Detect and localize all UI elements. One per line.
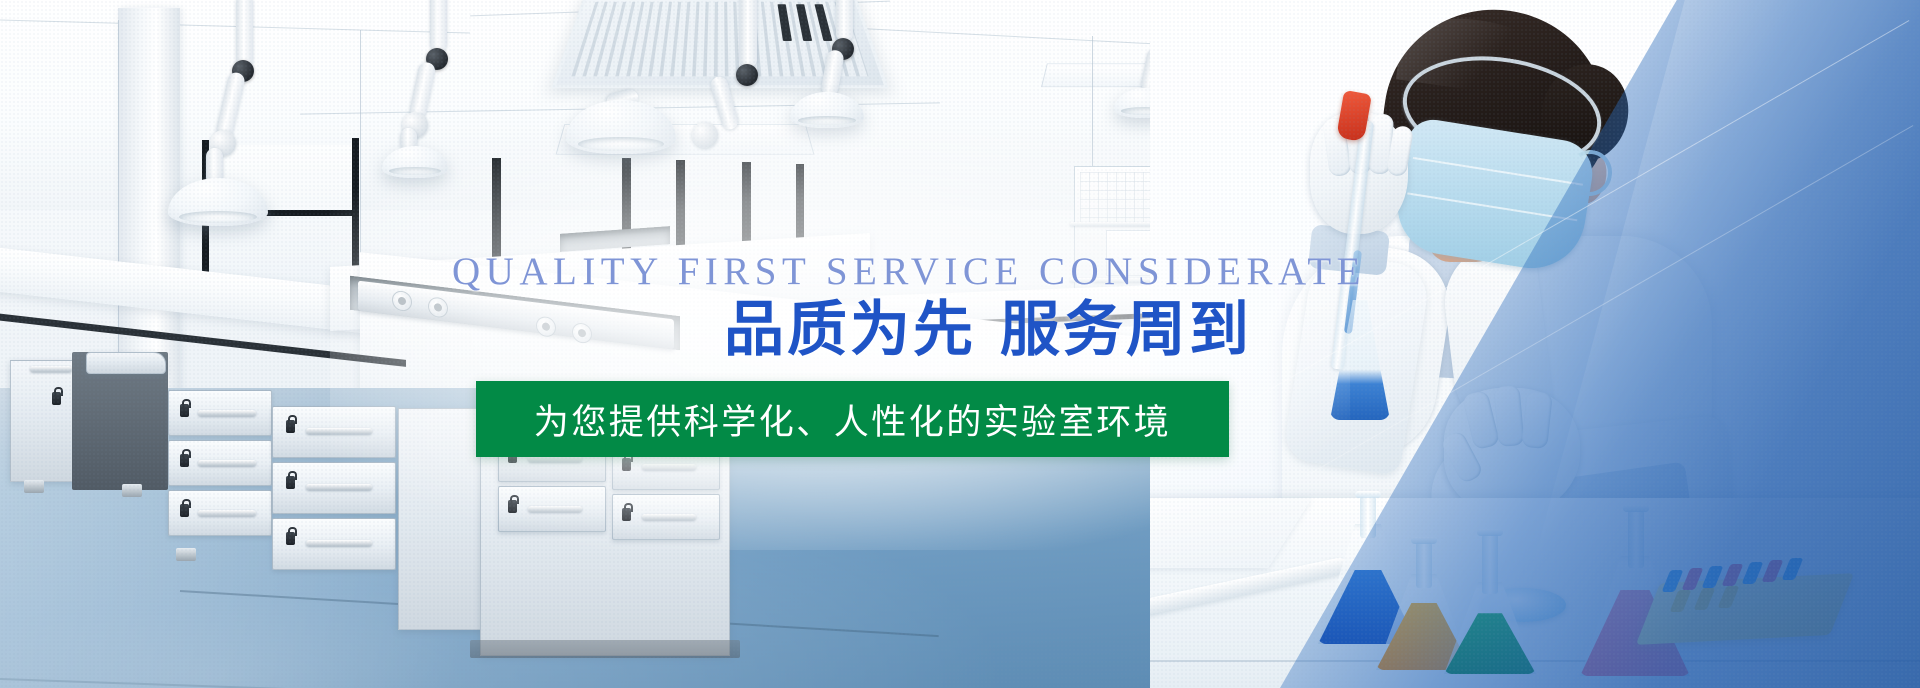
hero-banner: QUALITY FIRST SERVICE CONSIDERATE 品质为先 服…: [0, 0, 1920, 688]
banner-copy: QUALITY FIRST SERVICE CONSIDERATE 品质为先 服…: [0, 0, 1920, 688]
green-subtitle-text: 为您提供科学化、人性化的实验室环境: [534, 394, 1172, 445]
green-subtitle-bar: 为您提供科学化、人性化的实验室环境: [476, 381, 1229, 457]
english-tagline: QUALITY FIRST SERVICE CONSIDERATE: [452, 249, 1366, 294]
chinese-headline: 品质为先 服务周到: [724, 300, 1252, 360]
